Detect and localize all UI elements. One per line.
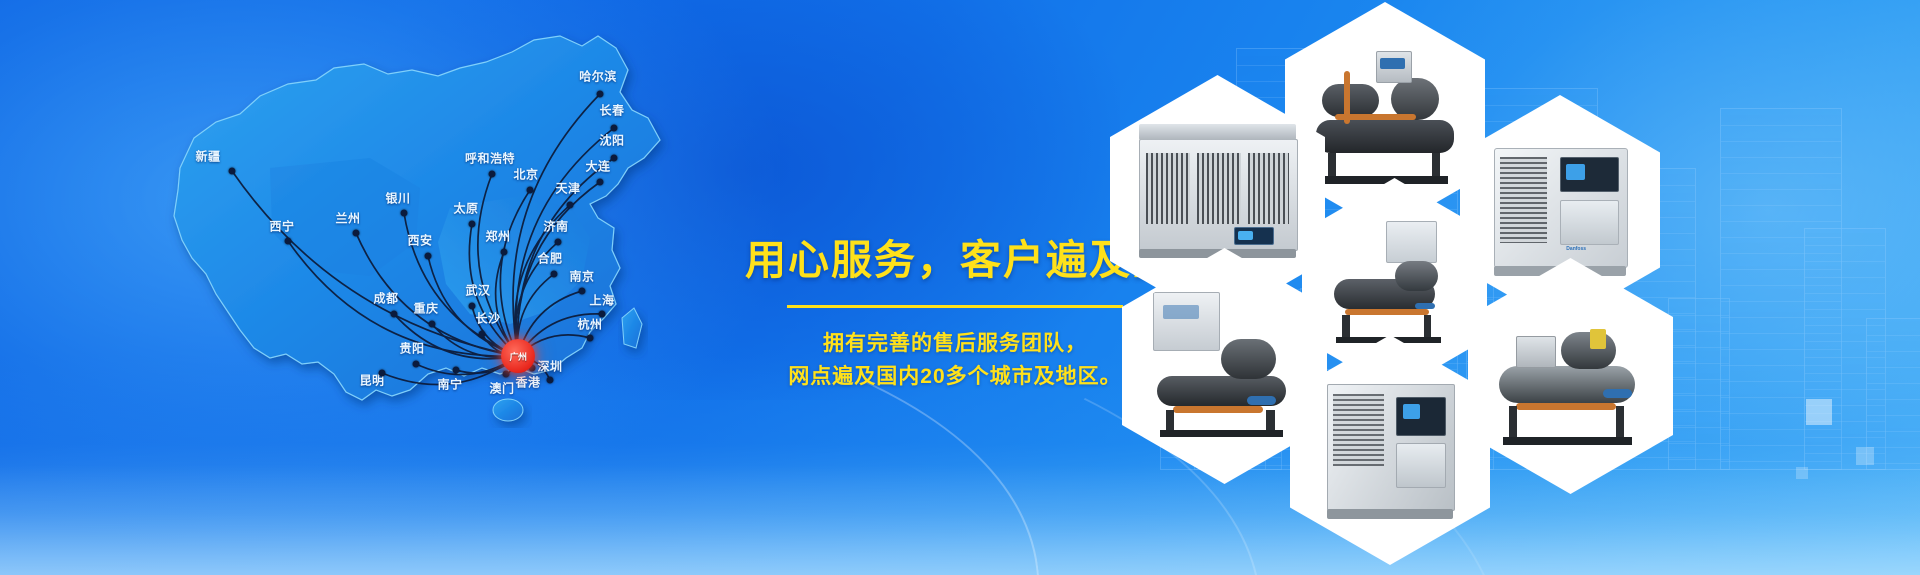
map-city-label: 天津	[555, 180, 580, 197]
map-city-dot[interactable]	[489, 171, 496, 178]
map-city-dot[interactable]	[353, 230, 360, 237]
map-city-label: 哈尔滨	[579, 68, 617, 85]
marketing-copy: 用心服务，客户遍及全国 拥有完善的售后服务团队， 网点遍及国内20多个城市及地区…	[745, 238, 1165, 393]
map-city-dot[interactable]	[527, 187, 534, 194]
map-city-label: 呼和浩特	[465, 150, 515, 167]
map-city-label: 上海	[589, 292, 614, 309]
page-title: 用心服务，客户遍及全国	[745, 238, 1165, 283]
map-city-dot[interactable]	[425, 253, 432, 260]
map-city-dot[interactable]	[479, 331, 486, 338]
map-city-dot[interactable]	[379, 370, 386, 377]
map-city-label: 南京	[569, 268, 594, 285]
map-city-dot[interactable]	[391, 311, 398, 318]
map-city-label: 银川	[385, 190, 410, 207]
map-city-dot[interactable]	[587, 335, 594, 342]
map-city-label: 深圳	[537, 358, 562, 375]
map-city-dot[interactable]	[285, 238, 292, 245]
map-city-dot[interactable]	[551, 271, 558, 278]
service-network-banner: 新疆西宁兰州银川呼和浩特北京天津大连哈尔滨长春沈阳太原西安郑州济南合肥南京上海杭…	[0, 0, 1920, 575]
china-service-map: 新疆西宁兰州银川呼和浩特北京天津大连哈尔滨长春沈阳太原西安郑州济南合肥南京上海杭…	[120, 18, 740, 458]
map-hub-marker[interactable]: 广州	[501, 339, 535, 373]
map-city-label: 长春	[599, 102, 624, 119]
map-city-dot[interactable]	[597, 91, 604, 98]
map-city-dot[interactable]	[611, 155, 618, 162]
hex-inner	[1472, 262, 1669, 490]
map-city-label: 武汉	[465, 282, 490, 299]
map-city-label: 兰州	[335, 210, 360, 227]
photo-water-cooled-screw-chiller	[1306, 35, 1463, 199]
map-city-label: 济南	[543, 218, 568, 235]
map-city-dot[interactable]	[469, 221, 476, 228]
map-city-dot[interactable]	[469, 303, 476, 310]
subtitle-line-2: 网点遍及国内20多个城市及地区。	[745, 361, 1165, 394]
map-city-dot[interactable]	[229, 168, 236, 175]
map-city-dot[interactable]	[567, 202, 574, 209]
map-city-label: 太原	[453, 200, 478, 217]
map-city-dot[interactable]	[401, 210, 408, 217]
title-divider	[787, 305, 1123, 308]
map-city-label: 西安	[407, 232, 432, 249]
map-city-label: 合肥	[537, 250, 562, 267]
map-city-label: 成都	[373, 290, 398, 307]
map-city-dot[interactable]	[579, 288, 586, 295]
photo-box-type-chiller	[1311, 368, 1468, 532]
subtitle-line-1: 拥有完善的售后服务团队，	[745, 328, 1165, 361]
map-city-label: 重庆	[413, 300, 438, 317]
map-city-label: 杭州	[577, 316, 602, 333]
map-city-label: 澳门	[489, 380, 514, 397]
map-city-label: 北京	[513, 166, 538, 183]
map-city-dot[interactable]	[429, 321, 436, 328]
map-city-label: 南宁	[437, 376, 462, 393]
map-city-dot[interactable]	[547, 377, 554, 384]
map-city-dot[interactable]	[501, 249, 508, 256]
map-city-dot[interactable]	[413, 361, 420, 368]
product-hex-collage: Danfoss	[1150, 0, 1920, 575]
map-city-dot[interactable]	[611, 125, 618, 132]
map-city-dot[interactable]	[555, 239, 562, 246]
photo-screw-compressor-unit	[1490, 292, 1652, 461]
map-city-label: 香港	[515, 374, 540, 391]
map-city-label: 沈阳	[599, 132, 624, 149]
map-city-label: 郑州	[485, 228, 510, 245]
map-city-label: 长沙	[475, 310, 500, 327]
hub-label: 广州	[501, 339, 535, 373]
map-city-dot[interactable]	[453, 367, 460, 374]
map-city-label: 西宁	[269, 218, 294, 235]
product-hex-screw-compressor-unit[interactable]	[1468, 258, 1673, 494]
map-city-label: 新疆	[195, 148, 220, 165]
map-city-label: 贵阳	[399, 340, 424, 357]
photo-water-cooled-unit	[1144, 282, 1306, 451]
map-city-label: 大连	[585, 158, 610, 175]
map-city-dot[interactable]	[597, 179, 604, 186]
